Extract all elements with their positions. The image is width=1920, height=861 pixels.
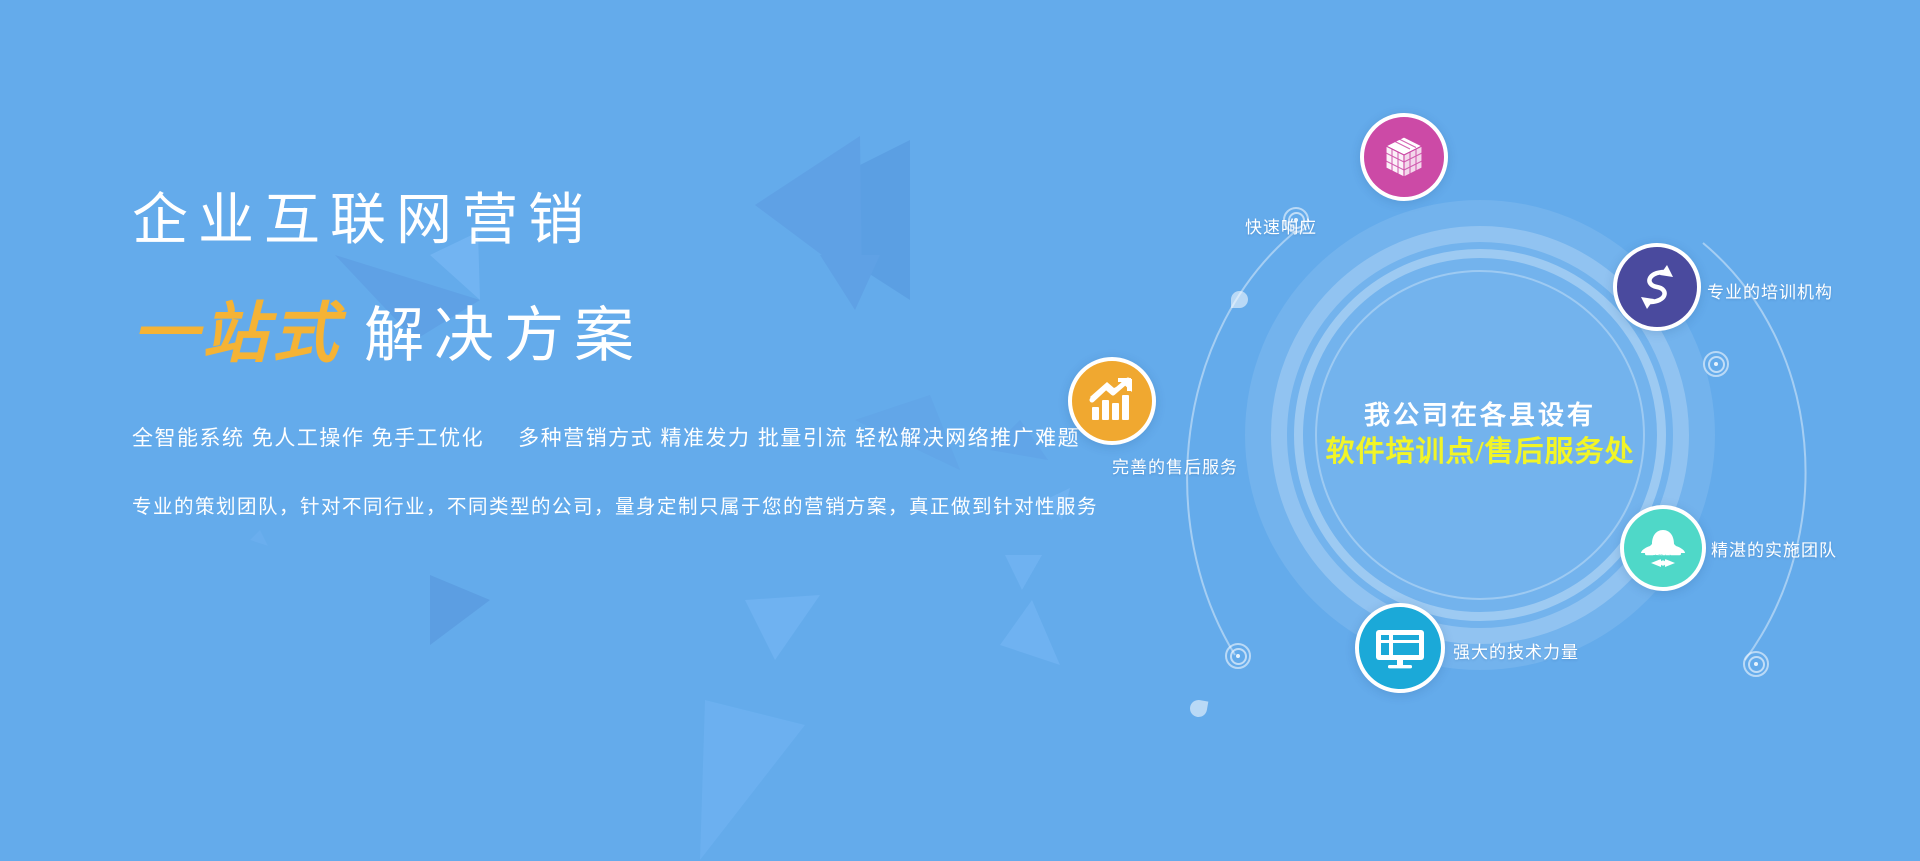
growth-chart-icon bbox=[1087, 376, 1137, 426]
service-hat-icon-caption: 客服中心 bbox=[1653, 554, 1673, 561]
cube-icon bbox=[1380, 133, 1428, 181]
node-professional-training-circle[interactable] bbox=[1613, 243, 1701, 331]
node-fast-response-label: 快速响应 bbox=[1245, 213, 1317, 238]
subtitle-rest: 解决方案 bbox=[364, 302, 644, 369]
center-message-line-2: 软件培训点/售后服务处 bbox=[1315, 433, 1645, 472]
page-title: 企业互联网营销 bbox=[132, 185, 1052, 255]
node-fast-response-circle[interactable] bbox=[1360, 113, 1448, 201]
marketing-banner: 企业互联网营销 一站式解决方案 全智能系统 免人工操作 免手工优化多种营销方式 … bbox=[0, 0, 1920, 861]
service-ring-graphic: 我公司在各县设有 软件培训点/售后服务处 bbox=[1085, 95, 1875, 775]
target-marker-icon bbox=[1225, 643, 1251, 669]
node-strong-technology-circle[interactable] bbox=[1355, 603, 1445, 693]
service-hat-icon: 客服中心 bbox=[1637, 522, 1689, 574]
feature-line-2: 专业的策划团队，针对不同行业，不同类型的公司，量身定制只属于您的营销方案，真正做… bbox=[132, 490, 1052, 519]
node-professional-training-label: 专业的培训机构 bbox=[1707, 278, 1833, 303]
target-marker-icon bbox=[1743, 651, 1769, 677]
subtitle-line: 一站式解决方案 bbox=[132, 297, 1052, 370]
subtitle-accent: 一站式 bbox=[132, 296, 342, 370]
map-pin-icon bbox=[1231, 291, 1248, 308]
feature-line-1-part2: 多种营销方式 精准发力 批量引流 轻松解决网络推广难题 bbox=[518, 427, 1080, 450]
feature-line-1-part1: 全智能系统 免人工操作 免手工优化 bbox=[132, 427, 484, 450]
s-arrow-icon bbox=[1629, 259, 1685, 315]
node-skilled-team-circle[interactable]: 客服中心 bbox=[1620, 505, 1706, 591]
feature-line-1: 全智能系统 免人工操作 免手工优化多种营销方式 精准发力 批量引流 轻松解决网络… bbox=[132, 422, 1052, 452]
node-skilled-team-label: 精湛的实施团队 bbox=[1711, 536, 1837, 561]
center-message: 我公司在各县设有 软件培训点/售后服务处 bbox=[1315, 398, 1645, 472]
headline-block: 企业互联网营销 一站式解决方案 全智能系统 免人工操作 免手工优化多种营销方式 … bbox=[132, 185, 1052, 519]
node-after-sales-label: 完善的售后服务 bbox=[1112, 453, 1238, 478]
monitor-icon bbox=[1373, 621, 1427, 675]
node-after-sales-circle[interactable] bbox=[1068, 357, 1156, 445]
center-message-line-1: 我公司在各县设有 bbox=[1315, 398, 1645, 433]
node-strong-technology-label: 强大的技术力量 bbox=[1453, 638, 1579, 663]
